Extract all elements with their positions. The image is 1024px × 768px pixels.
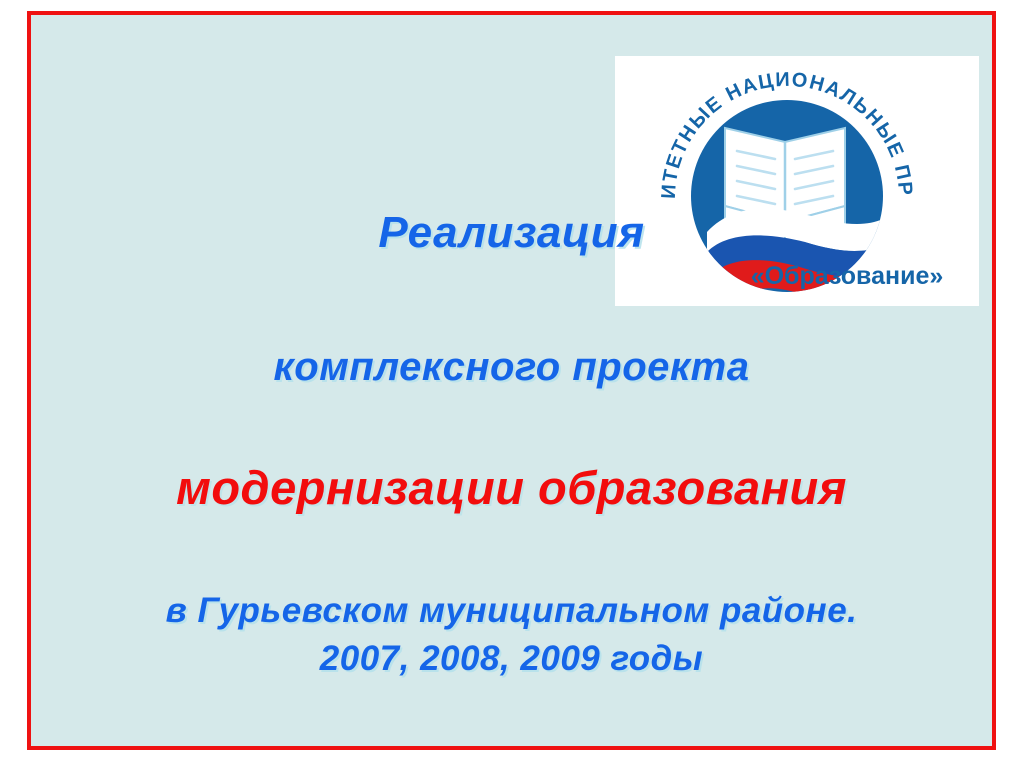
- title-line-modernizatsii-obrazovaniya: модернизации образования: [31, 463, 996, 512]
- title-line-guryevsky-rayon: в Гурьевском муниципальном районе.: [31, 593, 1008, 630]
- slide-canvas: ПРИОРИТЕТНЫЕ НАЦИОНАЛЬНЫЕ ПРОЕКТЫ «Образ…: [31, 15, 992, 746]
- title-line-realizatsiya: Реализация: [31, 210, 1024, 256]
- title-line-kompleksnogo-proekta: комплексного проекта: [31, 346, 1024, 388]
- logo-caption: «Образование»: [751, 262, 944, 290]
- logo-image: ПРИОРИТЕТНЫЕ НАЦИОНАЛЬНЫЕ ПРОЕКТЫ «Образ…: [615, 56, 979, 306]
- title-line-years: 2007, 2008, 2009 годы: [31, 641, 1008, 678]
- slide-frame: ПРИОРИТЕТНЫЕ НАЦИОНАЛЬНЫЕ ПРОЕКТЫ «Образ…: [27, 11, 996, 750]
